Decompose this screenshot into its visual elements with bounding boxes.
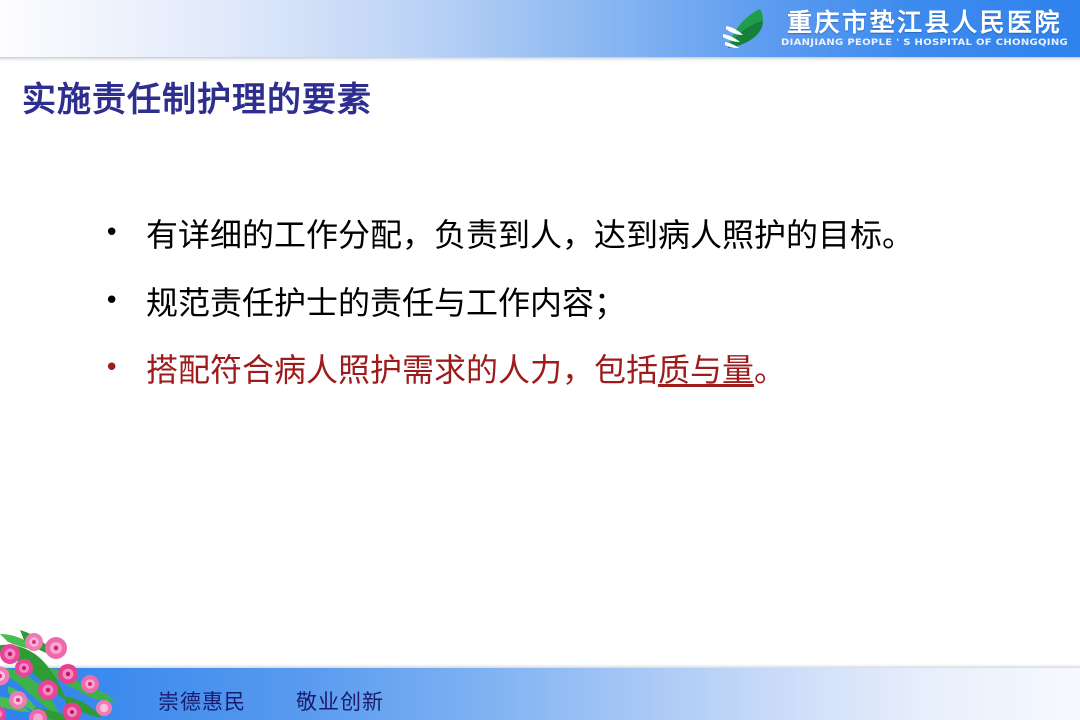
list-item: • 规范责任护士的责任与工作内容； <box>104 282 1054 326</box>
list-item: • 有详细的工作分配，负责到人，达到病人照护的目标。 <box>104 214 1054 258</box>
logo-wordmark: 重庆市垫江县人民医院 DIANJIANG PEOPLE ' S HOSPITAL… <box>781 10 1068 48</box>
footer-motto-left: 崇德惠民 <box>158 686 246 716</box>
list-item: • 搭配符合病人照护需求的人力，包括质与量。 <box>104 349 1054 393</box>
footer-motto-right: 敬业创新 <box>296 686 384 716</box>
header-shadow <box>0 57 1080 63</box>
slide: 重庆市垫江县人民医院 DIANJIANG PEOPLE ' S HOSPITAL… <box>0 0 1080 720</box>
hospital-logo: 重庆市垫江县人民医院 DIANJIANG PEOPLE ' S HOSPITAL… <box>719 3 1068 55</box>
bullet-text-pre: 搭配符合病人照护需求的人力，包括 <box>146 351 658 389</box>
bullet-dot-icon: • <box>104 214 146 254</box>
bullet-text-post: 。 <box>754 351 786 389</box>
bullet-text: 搭配符合病人照护需求的人力，包括质与量。 <box>146 349 786 393</box>
green-wing-swoosh-icon <box>719 6 775 52</box>
bullet-list: • 有详细的工作分配，负责到人，达到病人照护的目标。 • 规范责任护士的责任与工… <box>104 214 1054 417</box>
page-title: 实施责任制护理的要素 <box>22 72 372 121</box>
logo-name-cn: 重庆市垫江县人民医院 <box>787 10 1062 35</box>
bullet-text: 规范责任护士的责任与工作内容； <box>146 282 626 326</box>
bullet-text: 有详细的工作分配，负责到人，达到病人照护的目标。 <box>146 214 914 258</box>
logo-name-en: DIANJIANG PEOPLE ' S HOSPITAL OF CHONGQI… <box>781 38 1068 47</box>
bullet-dot-icon: • <box>104 282 146 322</box>
bullet-text-emphasis: 质与量 <box>658 351 754 389</box>
bullet-dot-icon: • <box>104 349 146 389</box>
